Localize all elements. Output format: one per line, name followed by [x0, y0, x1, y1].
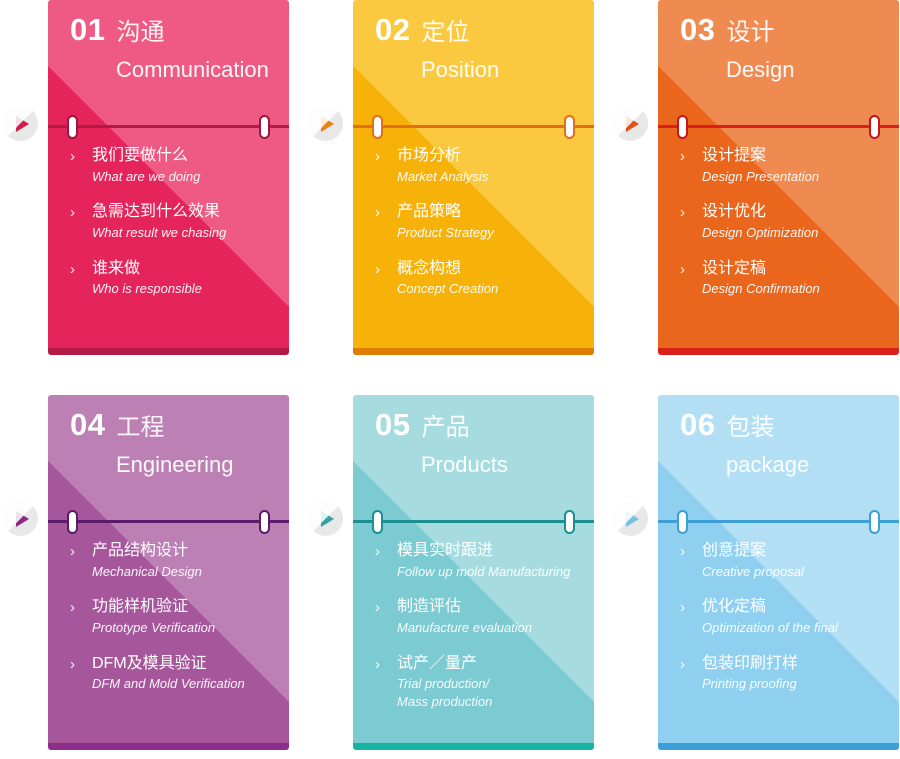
list-item-label-en: Prototype Verification: [92, 619, 275, 637]
card-number: 06: [680, 409, 715, 440]
list-item-label-cn: 试产／量产: [397, 654, 580, 675]
step-card-01[interactable]: 01沟通Communication›我们要做什么What are we doin…: [48, 0, 289, 355]
list-item-label-en: Printing proofing: [702, 675, 885, 693]
card-divider: [658, 508, 899, 534]
chevron-right-icon: ›: [680, 203, 685, 223]
card-foot-bar: [658, 743, 899, 750]
card-title-row: 02定位: [375, 14, 594, 45]
list-item-label-cn: 优化定稿: [702, 597, 885, 618]
card-item-list: ›我们要做什么What are we doing›急需达到什么效果What re…: [48, 146, 289, 315]
chevron-right-icon: ›: [680, 260, 685, 280]
pin-marker-left: [372, 115, 383, 139]
card-foot-bar: [48, 348, 289, 355]
arrow-row2-end[interactable]: [613, 501, 648, 536]
list-item-label-cn: 模具实时跟进: [397, 541, 580, 562]
pin-marker-right: [869, 115, 880, 139]
list-item[interactable]: ›谁来做Who is responsible: [92, 259, 275, 298]
pin-marker-left: [67, 115, 78, 139]
list-item-label-en: Creative proposal: [702, 563, 885, 581]
card-title-cn: 设计: [726, 21, 774, 45]
card-body: 01沟通Communication›我们要做什么What are we doin…: [48, 0, 289, 348]
arrow-row2-mid[interactable]: [308, 501, 343, 536]
list-item[interactable]: ›试产／量产Trial production/ Mass production: [397, 654, 580, 711]
card-number: 02: [375, 14, 410, 45]
card-header: 02定位Position: [353, 0, 594, 81]
card-divider: [353, 508, 594, 534]
divider-line: [353, 125, 594, 128]
card-item-list: ›模具实时跟进Follow up mold Manufacturing›制造评估…: [353, 541, 594, 728]
card-title-row: 01沟通: [70, 14, 289, 45]
list-item-label-en: Concept Creation: [397, 280, 580, 298]
list-item-label-en: Who is responsible: [92, 280, 275, 298]
list-item-label-en: Trial production/ Mass production: [397, 675, 580, 710]
card-foot-bar: [353, 743, 594, 750]
list-item[interactable]: ›功能样机验证Prototype Verification: [92, 597, 275, 636]
list-item[interactable]: ›DFM及模具验证DFM and Mold Verification: [92, 654, 275, 693]
card-body: 05产品Products›模具实时跟进Follow up mold Manufa…: [353, 395, 594, 743]
list-item-label-cn: 功能样机验证: [92, 597, 275, 618]
card-body: 06包装package›创意提案Creative proposal›优化定稿Op…: [658, 395, 899, 743]
chevron-right-icon: ›: [375, 260, 380, 280]
card-body: 04工程Engineering›产品结构设计Mechanical Design›…: [48, 395, 289, 743]
card-divider: [658, 113, 899, 139]
list-item[interactable]: ›概念构想Concept Creation: [397, 259, 580, 298]
card-foot-bar: [353, 348, 594, 355]
list-item-label-cn: 创意提案: [702, 541, 885, 562]
card-item-list: ›市场分析Market Analysis›产品策略Product Strateg…: [353, 146, 594, 315]
list-item-label-cn: 设计提案: [702, 146, 885, 167]
step-card-04[interactable]: 04工程Engineering›产品结构设计Mechanical Design›…: [48, 395, 289, 750]
list-item[interactable]: ›制造评估Manufacture evaluation: [397, 597, 580, 636]
chevron-right-icon: ›: [70, 655, 75, 675]
card-title-row: 03设计: [680, 14, 899, 45]
list-item-label-en: Manufacture evaluation: [397, 619, 580, 637]
card-header: 01沟通Communication: [48, 0, 289, 81]
list-item-label-cn: 急需达到什么效果: [92, 202, 275, 223]
list-item-label-cn: 谁来做: [92, 259, 275, 280]
list-item-label-cn: DFM及模具验证: [92, 654, 275, 675]
list-item[interactable]: ›设计定稿Design Confirmation: [702, 259, 885, 298]
card-title-row: 04工程: [70, 409, 289, 440]
card-divider: [353, 113, 594, 139]
list-item-label-en: What result we chasing: [92, 224, 275, 242]
pin-marker-right: [259, 115, 270, 139]
list-item[interactable]: ›模具实时跟进Follow up mold Manufacturing: [397, 541, 580, 580]
pin-marker-right: [564, 115, 575, 139]
arrow-row1-end[interactable]: [613, 106, 648, 141]
arrow-row1-mid[interactable]: [308, 106, 343, 141]
card-title-cn: 定位: [421, 21, 469, 45]
pin-marker-left: [677, 115, 688, 139]
card-title-row: 05产品: [375, 409, 594, 440]
list-item-label-cn: 设计定稿: [702, 259, 885, 280]
card-header: 06包装package: [658, 395, 899, 476]
card-number: 03: [680, 14, 715, 45]
card-header: 03设计Design: [658, 0, 899, 81]
card-title-en: Position: [421, 59, 594, 81]
list-item[interactable]: ›市场分析Market Analysis: [397, 146, 580, 185]
list-item-label-en: DFM and Mold Verification: [92, 675, 275, 693]
list-item[interactable]: ›包装印刷打样Printing proofing: [702, 654, 885, 693]
card-title-en: Communication: [116, 59, 289, 81]
list-item-label-en: Optimization of the final: [702, 619, 885, 637]
chevron-right-icon: ›: [375, 542, 380, 562]
list-item[interactable]: ›我们要做什么What are we doing: [92, 146, 275, 185]
list-item-label-en: Follow up mold Manufacturing: [397, 563, 580, 581]
card-title-cn: 产品: [421, 416, 469, 440]
card-item-list: ›创意提案Creative proposal›优化定稿Optimization …: [658, 541, 899, 710]
card-number: 04: [70, 409, 105, 440]
card-divider: [48, 113, 289, 139]
chevron-right-icon: ›: [375, 598, 380, 618]
card-title-cn: 包装: [726, 416, 774, 440]
pin-marker-right: [259, 510, 270, 534]
card-divider: [48, 508, 289, 534]
chevron-right-icon: ›: [680, 655, 685, 675]
list-item[interactable]: ›设计提案Design Presentation: [702, 146, 885, 185]
card-title-en: package: [726, 454, 899, 476]
pin-marker-right: [564, 510, 575, 534]
step-card-02[interactable]: 02定位Position›市场分析Market Analysis›产品策略Pro…: [353, 0, 594, 355]
card-header: 05产品Products: [353, 395, 594, 476]
chevron-right-icon: ›: [680, 147, 685, 167]
arrow-row1-start[interactable]: [3, 106, 38, 141]
chevron-right-icon: ›: [70, 260, 75, 280]
chevron-right-icon: ›: [680, 542, 685, 562]
card-title-en: Products: [421, 454, 594, 476]
step-card-03[interactable]: 03设计Design›设计提案Design Presentation›设计优化D…: [658, 0, 899, 355]
chevron-right-icon: ›: [375, 655, 380, 675]
card-foot-bar: [658, 348, 899, 355]
card-title-en: Engineering: [116, 454, 289, 476]
list-item[interactable]: ›产品结构设计Mechanical Design: [92, 541, 275, 580]
chevron-right-icon: ›: [70, 598, 75, 618]
card-title-row: 06包装: [680, 409, 899, 440]
card-number: 05: [375, 409, 410, 440]
chevron-right-icon: ›: [680, 598, 685, 618]
list-item-label-en: Design Optimization: [702, 224, 885, 242]
card-body: 03设计Design›设计提案Design Presentation›设计优化D…: [658, 0, 899, 348]
chevron-right-icon: ›: [70, 203, 75, 223]
list-item-label-en: What are we doing: [92, 168, 275, 186]
card-title-en: Design: [726, 59, 899, 81]
list-item[interactable]: ›急需达到什么效果What result we chasing: [92, 202, 275, 241]
pin-marker-left: [677, 510, 688, 534]
list-item-label-cn: 产品结构设计: [92, 541, 275, 562]
card-title-cn: 沟通: [116, 21, 164, 45]
card-item-list: ›设计提案Design Presentation›设计优化Design Opti…: [658, 146, 899, 315]
chevron-right-icon: ›: [70, 542, 75, 562]
list-item-label-cn: 产品策略: [397, 202, 580, 223]
card-body: 02定位Position›市场分析Market Analysis›产品策略Pro…: [353, 0, 594, 348]
divider-line: [658, 520, 899, 523]
card-foot-bar: [48, 743, 289, 750]
divider-line: [353, 520, 594, 523]
list-item-label-cn: 设计优化: [702, 202, 885, 223]
chevron-right-icon: ›: [375, 203, 380, 223]
card-item-list: ›产品结构设计Mechanical Design›功能样机验证Prototype…: [48, 541, 289, 710]
pin-marker-left: [67, 510, 78, 534]
list-item-label-en: Design Presentation: [702, 168, 885, 186]
list-item[interactable]: ›设计优化Design Optimization: [702, 202, 885, 241]
list-item-label-en: Market Analysis: [397, 168, 580, 186]
chevron-right-icon: ›: [375, 147, 380, 167]
card-title-cn: 工程: [116, 416, 164, 440]
list-item-label-cn: 制造评估: [397, 597, 580, 618]
chevron-right-icon: ›: [70, 147, 75, 167]
pin-marker-right: [869, 510, 880, 534]
card-number: 01: [70, 14, 105, 45]
divider-line: [48, 125, 289, 128]
step-card-05[interactable]: 05产品Products›模具实时跟进Follow up mold Manufa…: [353, 395, 594, 750]
divider-line: [658, 125, 899, 128]
list-item[interactable]: ›优化定稿Optimization of the final: [702, 597, 885, 636]
arrow-row2-start[interactable]: [3, 501, 38, 536]
pin-marker-left: [372, 510, 383, 534]
infographic-board: 01沟通Communication›我们要做什么What are we doin…: [0, 0, 900, 759]
card-header: 04工程Engineering: [48, 395, 289, 476]
list-item-label-cn: 我们要做什么: [92, 146, 275, 167]
list-item-label-cn: 概念构想: [397, 259, 580, 280]
list-item-label-en: Mechanical Design: [92, 563, 275, 581]
list-item[interactable]: ›创意提案Creative proposal: [702, 541, 885, 580]
step-card-06[interactable]: 06包装package›创意提案Creative proposal›优化定稿Op…: [658, 395, 899, 750]
list-item-label-cn: 市场分析: [397, 146, 580, 167]
list-item-label-en: Design Confirmation: [702, 280, 885, 298]
list-item[interactable]: ›产品策略Product Strategy: [397, 202, 580, 241]
list-item-label-cn: 包装印刷打样: [702, 654, 885, 675]
list-item-label-en: Product Strategy: [397, 224, 580, 242]
divider-line: [48, 520, 289, 523]
